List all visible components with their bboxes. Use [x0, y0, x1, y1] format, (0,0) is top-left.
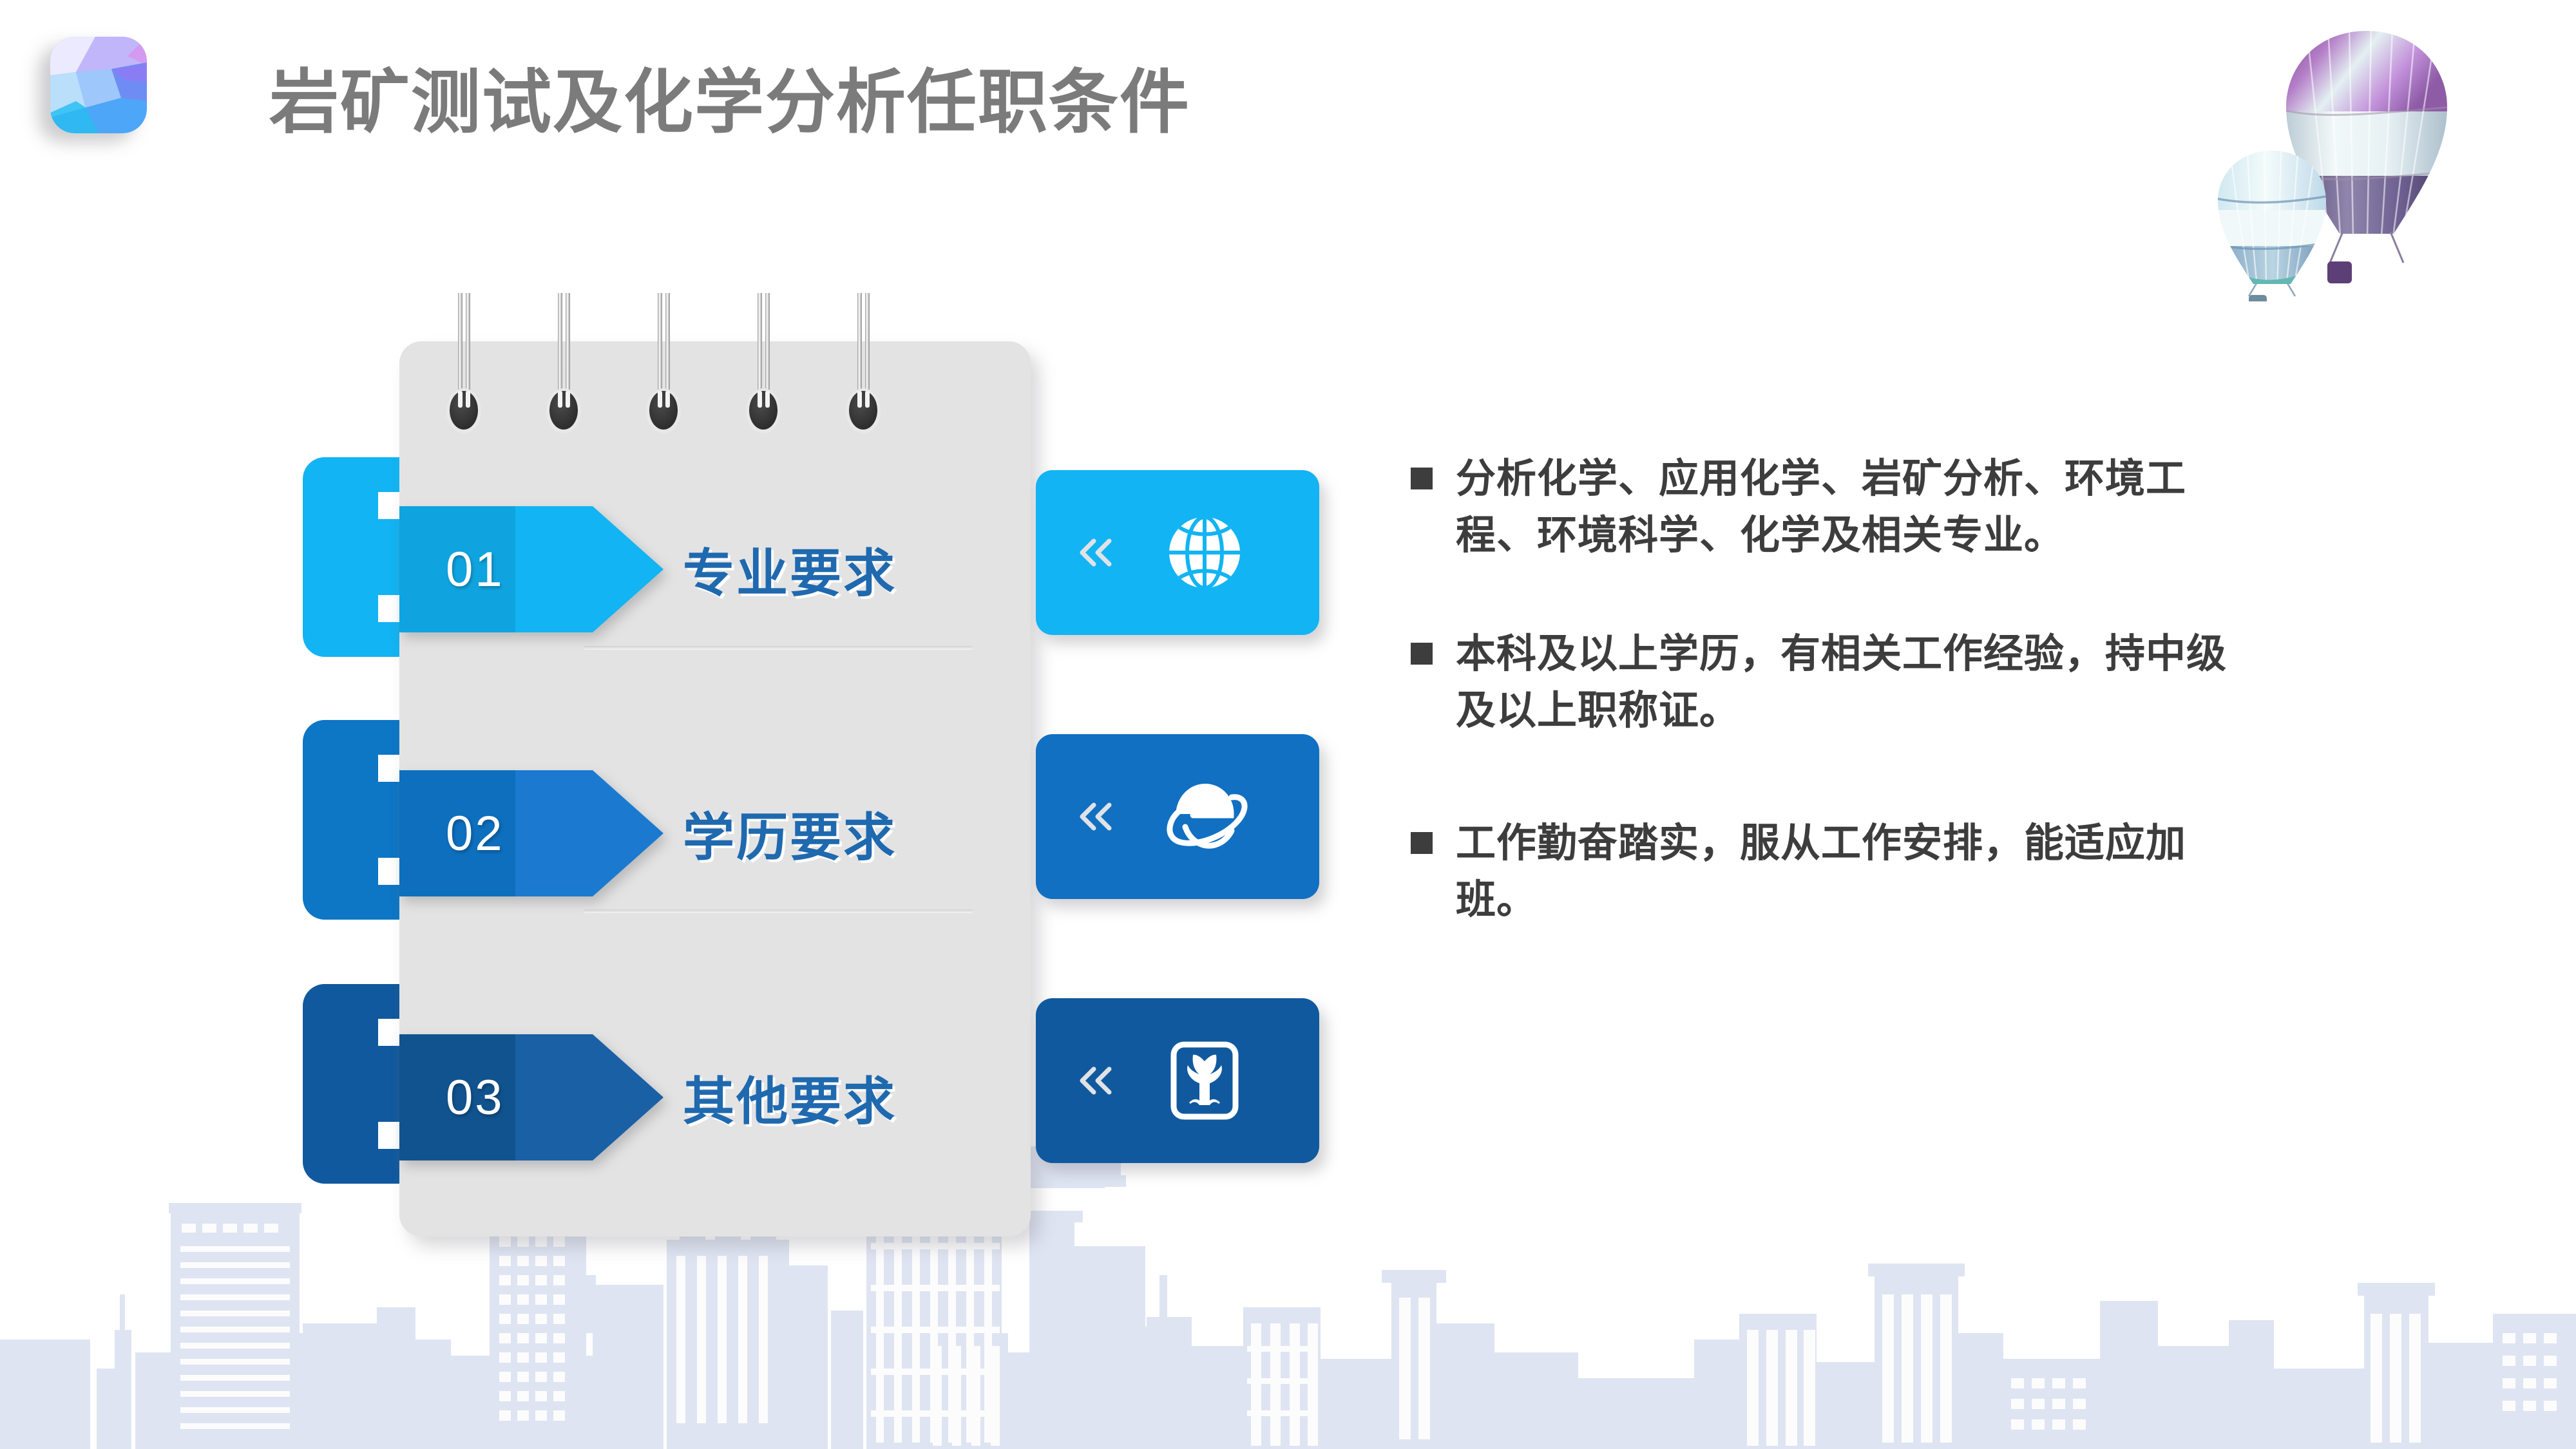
row-label-02: 学历要求	[683, 770, 979, 896]
bullet-item: 分析化学、应用化学、岩矿分析、环境工程、环境科学、化学及相关专业。	[1411, 451, 2493, 564]
icon-panel-row-3[interactable]	[1036, 998, 1319, 1163]
row-label-03: 其他要求	[683, 1034, 979, 1160]
row-label-01: 专业要求	[683, 506, 979, 632]
square-bullet-icon	[1411, 643, 1433, 665]
bullet-item: 本科及以上学历，有相关工作经验，持中级及以上职称证。	[1411, 626, 2493, 739]
step-number: 02	[446, 806, 504, 862]
step-number: 01	[446, 542, 504, 598]
requirements-bullet-list: 分析化学、应用化学、岩矿分析、环境工程、环境科学、化学及相关专业。 本科及以上学…	[1411, 451, 2493, 929]
double-chevron-left-icon	[1073, 530, 1118, 575]
step-tab-02[interactable]: 02	[399, 770, 663, 896]
requirements-diagram: 01 02 03 专业要求 学历要求 其他要求	[0, 0, 1417, 1449]
row-divider	[583, 646, 973, 650]
double-chevron-left-icon	[1073, 794, 1118, 839]
row-divider	[583, 909, 973, 913]
icon-panel-row-1[interactable]	[1036, 470, 1319, 635]
double-chevron-left-icon	[1073, 1058, 1118, 1103]
square-bullet-icon	[1411, 832, 1433, 854]
bullet-text: 本科及以上学历，有相关工作经验，持中级及以上职称证。	[1456, 626, 2242, 739]
internet-explorer-e-icon	[1159, 772, 1250, 862]
notepad-spiral-rings	[399, 293, 1031, 441]
bullet-item: 工作勤奋踏实，服从工作安排，能适应加班。	[1411, 815, 2493, 929]
step-tab-03[interactable]: 03	[399, 1034, 663, 1160]
bullet-text: 工作勤奋踏实，服从工作安排，能适应加班。	[1456, 815, 2242, 929]
step-tab-01[interactable]: 01	[399, 506, 663, 632]
globe-icon	[1159, 507, 1250, 598]
icon-panel-row-2[interactable]	[1036, 734, 1319, 899]
tulip-flower-icon	[1159, 1036, 1250, 1126]
square-bullet-icon	[1411, 468, 1433, 489]
step-number: 03	[446, 1070, 504, 1126]
bullet-text: 分析化学、应用化学、岩矿分析、环境工程、环境科学、化学及相关专业。	[1456, 451, 2242, 564]
